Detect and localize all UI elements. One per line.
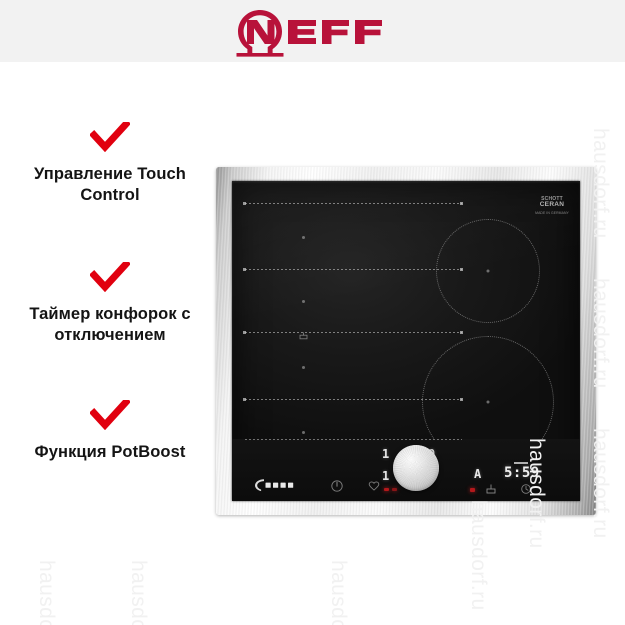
ceran-sub-line: MADE IN GERMANY [535, 211, 569, 215]
zone-center-marker [487, 401, 490, 404]
schott-ceran-badge: SCHOTT CERAN MADE IN GERMANY [535, 197, 569, 215]
feature-label: Функция PotBoost [0, 442, 220, 463]
check-icon [90, 262, 130, 292]
lock-icon[interactable] [367, 479, 381, 493]
timer-display: 5:59 [504, 465, 540, 481]
watermark: hausdorf.ru [326, 560, 350, 625]
flex-zone-center-marker [302, 300, 305, 303]
neff-logo [216, 6, 396, 58]
pot-detect-icon [299, 327, 308, 335]
watermark: hausdorf.ru [34, 560, 58, 625]
watermark: hausdorf.ru [466, 500, 490, 611]
induction-hob-product-image: SCHOTT CERAN MADE IN GERMANY [216, 167, 596, 515]
twistpad-knob[interactable] [393, 445, 439, 491]
feature-item-potboost: Функция PotBoost [0, 400, 220, 463]
zone-center-marker [487, 270, 490, 273]
status-led [384, 488, 389, 491]
status-led [470, 488, 475, 492]
flex-zone-divider [244, 332, 462, 333]
feature-label: Таймер конфорок с отключением [0, 304, 220, 347]
control-panel-divider [244, 439, 462, 440]
flex-zone-divider [244, 269, 462, 270]
flex-zone-center-marker [302, 366, 305, 369]
cooking-zone-rear-right [436, 219, 540, 323]
ceramic-glass-surface: SCHOTT CERAN MADE IN GERMANY [232, 181, 580, 501]
zone-level-rear-left: 1 [382, 447, 390, 461]
check-icon [90, 400, 130, 430]
feature-label: Управление Touch Control [0, 164, 220, 207]
pot-detect-icon[interactable] [485, 482, 497, 494]
check-icon [90, 122, 130, 152]
feature-item-touch-control: Управление Touch Control [0, 122, 220, 207]
status-led [392, 488, 397, 491]
power-icon[interactable] [330, 479, 344, 493]
flex-zone-center-marker [302, 236, 305, 239]
clock-icon[interactable] [520, 482, 532, 494]
panel-neff-logo [250, 478, 312, 492]
zone-level-front-left: 1 [382, 469, 390, 483]
flex-zone-divider [244, 203, 462, 204]
ceran-main-line: CERAN [535, 202, 569, 209]
feature-item-burner-timer: Таймер конфорок с отключением [0, 262, 220, 347]
watermark: hausdorf.ru [126, 560, 150, 625]
indicator-a: A [474, 467, 481, 481]
control-panel[interactable]: 1 1 0 3 2 A 5:59 [232, 439, 580, 501]
flex-zone-center-marker [302, 431, 305, 434]
